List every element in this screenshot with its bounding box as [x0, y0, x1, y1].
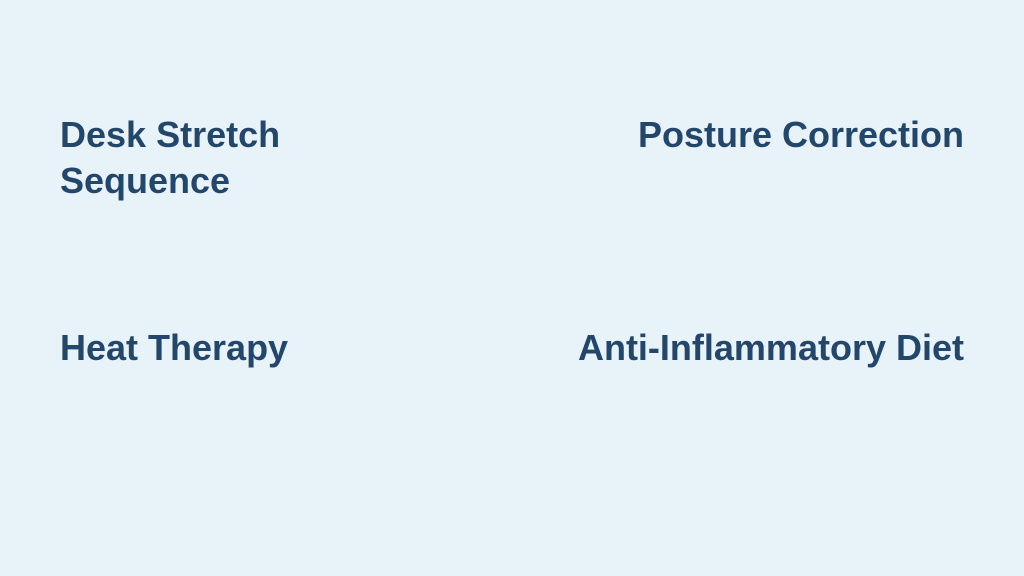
grid-cell-top-right: Posture Correction — [512, 112, 964, 325]
slide-canvas: Desk Stretch Sequence Posture Correction… — [0, 0, 1024, 576]
item-title-desk-stretch-sequence: Desk Stretch Sequence — [60, 112, 390, 204]
grid-cell-bottom-right: Anti-Inflammatory Diet — [512, 325, 964, 371]
item-grid: Desk Stretch Sequence Posture Correction… — [60, 112, 964, 371]
grid-cell-top-left: Desk Stretch Sequence — [60, 112, 512, 325]
item-title-anti-inflammatory-diet: Anti-Inflammatory Diet — [564, 325, 964, 371]
item-title-posture-correction: Posture Correction — [564, 112, 964, 158]
grid-cell-bottom-left: Heat Therapy — [60, 325, 512, 371]
item-title-heat-therapy: Heat Therapy — [60, 325, 390, 371]
